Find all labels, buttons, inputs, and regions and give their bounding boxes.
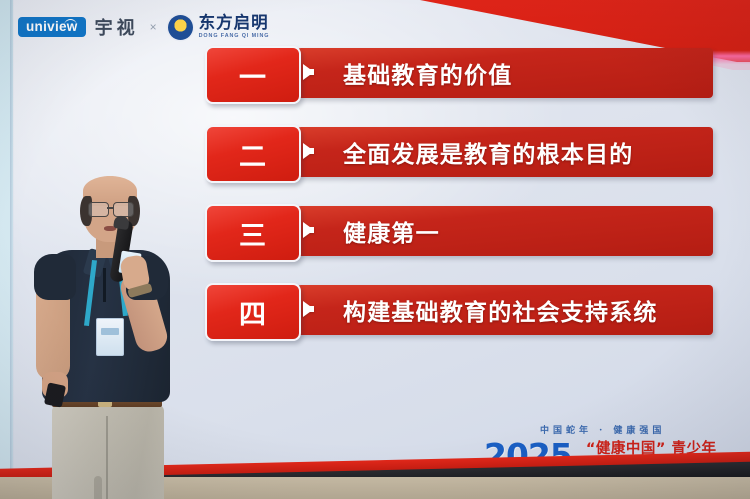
arrow-right-icon bbox=[303, 301, 314, 317]
dongfang-logo-cn: 东方启明 bbox=[199, 15, 270, 32]
screen-left-edge bbox=[10, 0, 14, 470]
speaker-figure bbox=[28, 176, 178, 499]
slide-row-number: 四 bbox=[205, 283, 301, 341]
slide-row-number: 一 bbox=[205, 46, 301, 104]
slide-row: 基础教育的价值 一 bbox=[205, 46, 713, 100]
slide-row: 全面发展是教育的根本目的 二 bbox=[205, 125, 713, 179]
speaker-left-sleeve bbox=[34, 254, 76, 300]
slide-row-number: 三 bbox=[205, 204, 301, 262]
slide-row-text: 健康第一 bbox=[343, 214, 440, 248]
speaker-glasses-left-lens bbox=[88, 202, 109, 217]
speaker-glasses-right-lens bbox=[113, 202, 134, 217]
slide-row-bar: 构建基础教育的社会支持系统 bbox=[297, 285, 713, 335]
arrow-right-icon bbox=[303, 64, 314, 80]
arrow-right-icon bbox=[303, 222, 314, 238]
speaker-placket bbox=[103, 268, 106, 302]
slide-outline-list: 基础教育的价值 一 全面发展是教育的根本目的 二 健康第一 三 构建基础教育的社… bbox=[205, 46, 713, 362]
event-tagline: 中国蛇年 · 健康强国 bbox=[540, 423, 742, 436]
partner-cross-icon: × bbox=[148, 20, 159, 34]
uniview-arc-icon bbox=[64, 19, 77, 26]
sunrise-seal-icon bbox=[168, 15, 193, 40]
dongfang-logo-en: DONG FANG QI MING bbox=[199, 34, 270, 39]
speaker-glasses-bridge bbox=[107, 207, 113, 209]
slide-row-number: 二 bbox=[205, 125, 301, 183]
speaker-trouser-seam bbox=[106, 416, 108, 499]
slide-row: 构建基础教育的社会支持系统 四 bbox=[205, 283, 713, 337]
slide-row-text: 基础教育的价值 bbox=[343, 56, 512, 90]
speaker-trousers bbox=[52, 405, 164, 499]
slide-row-bar: 全面发展是教育的根本目的 bbox=[297, 127, 713, 177]
dongfang-logo: 东方启明 DONG FANG QI MING bbox=[168, 15, 270, 40]
slide-row-bar: 基础教育的价值 bbox=[297, 48, 713, 98]
slide-row: 健康第一 三 bbox=[205, 204, 713, 258]
logo-bar: uniview 宇视 × 东方启明 DONG FANG QI MING bbox=[18, 14, 269, 40]
dongfang-logo-text: 东方启明 DONG FANG QI MING bbox=[199, 15, 270, 39]
lanyard-name-badge bbox=[96, 318, 124, 356]
uniview-logo: uniview bbox=[18, 17, 86, 38]
speaker-trouser-gap bbox=[94, 476, 102, 499]
arrow-right-icon bbox=[303, 143, 314, 159]
slide-row-text: 全面发展是教育的根本目的 bbox=[343, 135, 633, 169]
slide-row-text: 构建基础教育的社会支持系统 bbox=[343, 293, 658, 327]
slide-row-bar: 健康第一 bbox=[297, 206, 713, 256]
screenshot-root: uniview 宇视 × 东方启明 DONG FANG QI MING 基础教育… bbox=[0, 0, 750, 499]
uniview-logo-cn: 宇视 bbox=[95, 14, 139, 40]
